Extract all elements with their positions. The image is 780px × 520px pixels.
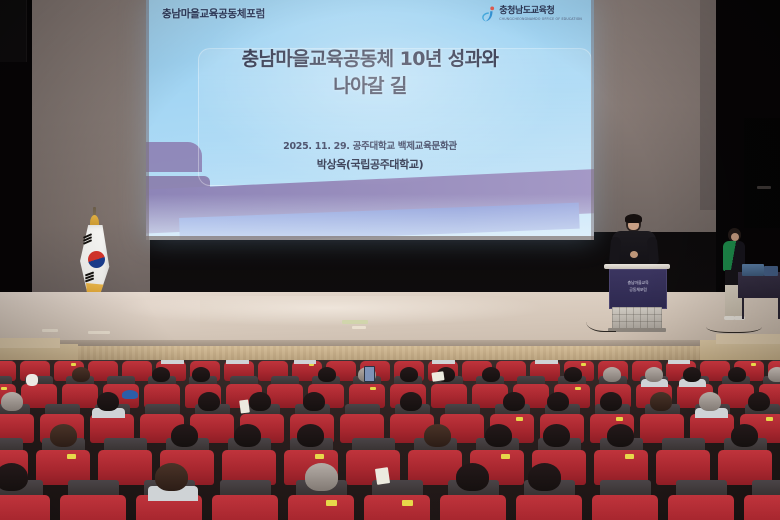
auditorium-seat[interactable]: [364, 495, 430, 520]
auditorium-seat[interactable]: [212, 495, 278, 520]
stage-step-left-top: [0, 338, 60, 348]
audience-member: [547, 392, 569, 411]
logo-text-block: 충청남도교육청 CHUNGCHEONGNAMDO OFFICE OF EDUCA…: [499, 7, 582, 21]
logo-english-text: CHUNGCHEONGNAMDO OFFICE OF EDUCATION: [499, 18, 582, 21]
seat-number-tag: [1, 387, 7, 390]
audience-member: [603, 367, 621, 382]
auditorium-seat[interactable]: [440, 495, 506, 520]
seat-number-tag: [326, 500, 337, 506]
seat-number-tag: [370, 387, 376, 390]
laptop-screen: [742, 264, 764, 276]
audience-member-shirt: [294, 360, 317, 364]
podium-foot: [608, 328, 666, 332]
left-panel-seam: [0, 0, 27, 62]
auditorium-seat[interactable]: [592, 495, 658, 520]
auditorium-scene: 충남마을교육공동체포럼 충청남도교육청 CHUNGCHEONGNAMDO OFF…: [0, 0, 780, 520]
auditorium-seat[interactable]: [288, 495, 354, 520]
audience-member: [485, 424, 512, 447]
av-operator-with-laptop: [712, 222, 770, 334]
presenter-at-podium: 충남마을교육 공동체포럼: [600, 207, 674, 335]
audience-member: [748, 392, 770, 411]
audience-member: [543, 424, 570, 447]
podium-front-panel: 충남마을교육 공동체포럼: [609, 269, 667, 309]
far-right-dark-area: [744, 118, 780, 228]
audience-member: [528, 463, 561, 491]
stage-step-right-top: [716, 334, 780, 344]
audience-member: [297, 424, 324, 447]
seat-number-tag: [581, 363, 586, 366]
screen-edge-right: [591, 0, 594, 240]
stage-floor-marker: [352, 326, 366, 329]
secondary-monitor: [764, 266, 778, 276]
organization-logo: 충청남도교육청 CHUNGCHEONGNAMDO OFFICE OF EDUCA…: [481, 5, 582, 23]
audience-seating-area: [0, 360, 780, 520]
slide-title-line1: 충남마을교육공동체 10년 성과와: [146, 46, 594, 73]
auditorium-seat[interactable]: [668, 495, 734, 520]
right-wall-panel: [594, 0, 716, 232]
logo-korean-text: 충청남도교육청: [499, 7, 582, 16]
operator-face: [731, 233, 739, 241]
audience-member: [607, 424, 634, 447]
screen-edge-bottom: [146, 236, 594, 240]
podium-base: [612, 307, 662, 329]
projection-screen: 충남마을교육공동체포럼 충청남도교육청 CHUNGCHEONGNAMDO OFF…: [146, 0, 594, 240]
audience-member: [1, 392, 23, 411]
auditorium-seat[interactable]: [516, 495, 582, 520]
audience-member: [155, 463, 188, 491]
slide-header: 충남마을교육공동체포럼 충청남도교육청 CHUNGCHEONGNAMDO OFF…: [146, 4, 594, 26]
seat-number-tag: [575, 387, 581, 390]
seat-number-tag: [766, 417, 773, 421]
audience-member: [234, 424, 261, 447]
seat-number-tag: [625, 454, 634, 459]
audience-member: [699, 392, 721, 411]
raised-phone: [364, 366, 375, 382]
slide-presenter-name: 박상옥(국립공주대학교): [146, 156, 594, 172]
seat-number-tag: [616, 417, 623, 421]
floor-cable: [706, 318, 762, 333]
audience-member: [192, 367, 210, 382]
audience-member: [600, 392, 622, 411]
audience-member: [400, 392, 422, 411]
seat-number-tag: [315, 454, 324, 459]
slide-header-title: 충남마을교육공동체포럼: [162, 6, 265, 21]
podium-signage-line2: 공동체포럼: [610, 286, 666, 293]
table-leg: [742, 297, 744, 319]
audience-member: [683, 367, 701, 382]
audience-member: [318, 367, 336, 382]
wall-light-reflection: [757, 186, 771, 189]
auditorium-seat[interactable]: [0, 495, 50, 520]
slide-date-venue: 2025. 11. 29. 공주대학교 백제교육문화관: [146, 138, 594, 152]
audience-member: [456, 463, 489, 491]
audience-member: [97, 392, 119, 411]
audience-member: [198, 392, 220, 411]
audience-member: [645, 367, 663, 382]
audience-member: [768, 367, 780, 382]
audience-member: [72, 367, 90, 382]
audience-member: [503, 392, 525, 411]
audience-member-shirt: [161, 360, 184, 364]
screen-edge-left: [146, 0, 149, 240]
podium-base-texture: [612, 307, 662, 329]
auditorium-seat[interactable]: [744, 495, 780, 520]
speaker-arm-right: [647, 237, 659, 266]
seat-number-tag: [501, 454, 510, 459]
audience-member: [650, 392, 672, 411]
auditorium-seat[interactable]: [60, 495, 126, 520]
audience-member-shirt: [226, 360, 249, 364]
handout-paper: [431, 371, 444, 382]
audience-member-shirt: [432, 360, 455, 364]
podium-signage-line1: 충남마을교육: [610, 279, 666, 286]
speaker-hair: [625, 214, 642, 223]
handout-paper: [375, 467, 390, 485]
speaker-hand: [630, 251, 638, 258]
chungnam-education-office-logo-icon: [481, 6, 496, 23]
flag-taeguk-circle: [88, 251, 105, 268]
seat-number-tag: [67, 454, 76, 459]
audience-member: [152, 367, 170, 382]
podium-signage: 충남마을교육 공동체포럼: [610, 279, 666, 293]
audience-member: [171, 424, 198, 447]
seat-number-tag: [71, 363, 76, 366]
audience-member-shirt: [535, 360, 558, 364]
audience-member: [50, 424, 77, 447]
stage-floor-marker: [88, 331, 110, 334]
blue-cap: [122, 390, 138, 399]
audience-member: [0, 463, 28, 491]
audience-member: [249, 392, 271, 411]
audience-member: [728, 367, 746, 382]
seat-number-tag: [751, 363, 756, 366]
face-mask: [26, 374, 38, 386]
seat-number-tag: [402, 500, 413, 506]
audience-member-shirt: [668, 360, 691, 364]
stage-floor-marker: [42, 329, 58, 332]
stage-floor-reflection: [120, 296, 540, 326]
stage-floor-tape: [342, 320, 368, 324]
audience-member: [482, 367, 500, 382]
audience-member: [564, 367, 582, 382]
audience-member: [400, 367, 418, 382]
audience-member: [303, 392, 325, 411]
slide-title-line2: 나아갈 길: [146, 73, 594, 100]
slide-main-title: 충남마을교육공동체 10년 성과와 나아갈 길: [146, 46, 594, 100]
audience-member: [731, 424, 758, 447]
audience-member: [305, 463, 338, 491]
audience-member: [424, 424, 451, 447]
seat-number-tag: [516, 417, 523, 421]
handout-paper: [239, 399, 250, 413]
